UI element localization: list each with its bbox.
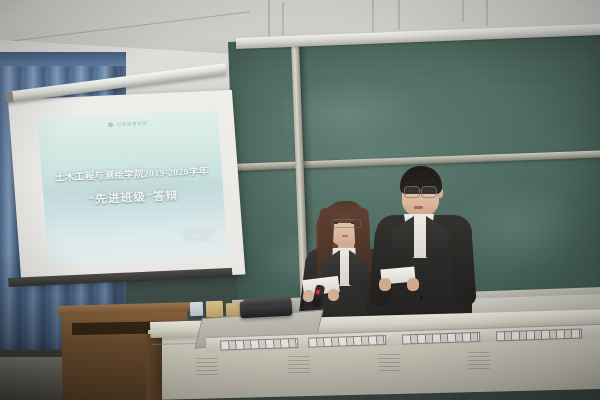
wall-panel-seam-3: [462, 0, 464, 22]
slide-meta: 2020年10月29日 教三-406教室: [182, 228, 215, 245]
male-hand-left: [379, 278, 391, 291]
female-brow-right: [350, 217, 355, 218]
console-button-row[interactable]: [220, 338, 298, 351]
female-brow-left: [334, 217, 339, 218]
university-logo: 河南城建学院: [38, 117, 218, 131]
chalk-box-2: [206, 301, 224, 318]
male-glasses-bridge: [418, 190, 422, 191]
console-button-row[interactable]: [496, 329, 582, 342]
female-mouth: [342, 235, 348, 237]
lectern-vent: [378, 354, 400, 373]
curtain-header: [0, 52, 126, 66]
lectern-vent: [196, 358, 218, 377]
female-glasses-icon: [331, 219, 361, 228]
lectern-vent: [468, 352, 490, 371]
projection-screen-roller-cap: [5, 91, 13, 103]
male-glasses-lens-right: [421, 186, 437, 198]
male-hand-right: [407, 278, 419, 291]
presentation-slide: 河南城建学院 土木工程与测绘学院2019-2020学年 “先进班级”答辩 202…: [37, 111, 228, 267]
classroom-photo: 河南城建学院 土木工程与测绘学院2019-2020学年 “先进班级”答辩 202…: [0, 0, 600, 400]
male-glasses-lens-left: [404, 186, 420, 198]
slide-location: 教三-406教室: [182, 235, 215, 244]
chalk-box-1: [190, 302, 203, 316]
wall-panel-seam-2: [398, 0, 400, 30]
university-logo-mark: [108, 122, 113, 127]
male-mouth: [414, 206, 423, 209]
console-button-row[interactable]: [308, 335, 386, 348]
microphone-led-indicator: [316, 290, 320, 294]
female-hand-right: [328, 289, 339, 301]
university-logo-text: 河南城建学院: [116, 121, 148, 127]
board-hanger-rod-3: [486, 0, 488, 26]
projection-screen: 河南城建学院 土木工程与测绘学院2019-2020学年 “先进班级”答辩 202…: [8, 90, 245, 285]
console-button-row[interactable]: [402, 332, 480, 345]
male-suit-button: [420, 296, 423, 299]
lectern-vent: [288, 356, 310, 375]
board-hanger-rod-2: [372, 0, 374, 36]
